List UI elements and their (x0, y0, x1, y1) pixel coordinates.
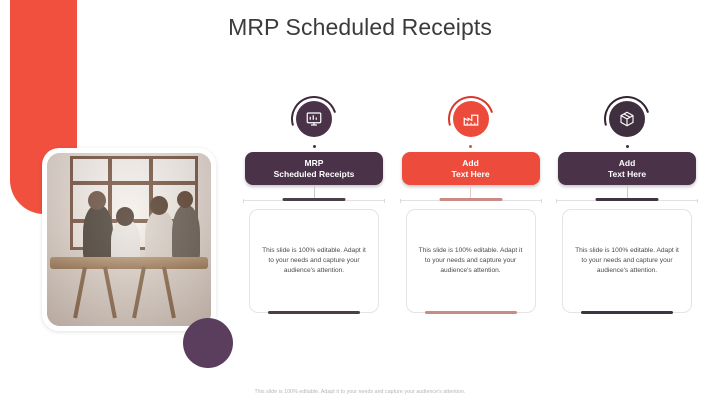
content-columns: MRP Scheduled Receipts This slide is 100… (243, 98, 698, 313)
body-card-3[interactable]: This slide is 100% editable. Adapt it to… (562, 209, 692, 313)
column-title-line1: MRP (305, 158, 324, 169)
monitor-chart-icon (296, 101, 332, 137)
divider-line-2 (400, 200, 542, 201)
top-accent-bar-1 (283, 198, 346, 201)
column-title-pill-2[interactable]: Add Text Here (402, 152, 540, 185)
divider-line-1 (243, 200, 385, 201)
factory-gear-icon (453, 101, 489, 137)
connector-dot-1 (313, 145, 316, 148)
content-column-1: MRP Scheduled Receipts This slide is 100… (243, 98, 385, 313)
divider-line-3 (556, 200, 698, 201)
content-column-2: Add Text Here This slide is 100% editabl… (400, 98, 542, 313)
icon-badge-1 (293, 98, 335, 140)
connector-dot-2 (469, 145, 472, 148)
body-card-2[interactable]: This slide is 100% editable. Adapt it to… (406, 209, 536, 313)
top-accent-bar-2 (439, 198, 502, 201)
bottom-accent-bar-3 (581, 311, 673, 314)
top-accent-bar-3 (596, 198, 659, 201)
body-text-2: This slide is 100% editable. Adapt it to… (416, 246, 526, 276)
icon-badge-3 (606, 98, 648, 140)
slide-canvas: MRP Scheduled Receipts (0, 0, 720, 404)
column-title-line1: Add (619, 158, 636, 169)
column-title-line2: Scheduled Receipts (274, 169, 355, 180)
page-title: MRP Scheduled Receipts (0, 12, 720, 42)
body-card-1[interactable]: This slide is 100% editable. Adapt it to… (249, 209, 379, 313)
icon-badge-2 (450, 98, 492, 140)
column-title-line2: Text Here (451, 169, 489, 180)
photo-frame (42, 148, 216, 331)
column-title-pill-1[interactable]: MRP Scheduled Receipts (245, 152, 383, 185)
body-text-1: This slide is 100% editable. Adapt it to… (259, 246, 369, 276)
package-box-icon (609, 101, 645, 137)
meeting-photo (47, 153, 211, 326)
column-title-line2: Text Here (608, 169, 646, 180)
column-title-line1: Add (462, 158, 479, 169)
connector-dot-3 (626, 145, 629, 148)
footer-note: This slide is 100% editable. Adapt it to… (0, 388, 720, 396)
content-column-3: Add Text Here This slide is 100% editabl… (556, 98, 698, 313)
column-title-pill-3[interactable]: Add Text Here (558, 152, 696, 185)
bottom-accent-bar-1 (268, 311, 360, 314)
purple-accent-circle (183, 318, 233, 368)
body-text-3: This slide is 100% editable. Adapt it to… (572, 246, 682, 276)
bottom-accent-bar-2 (425, 311, 517, 314)
